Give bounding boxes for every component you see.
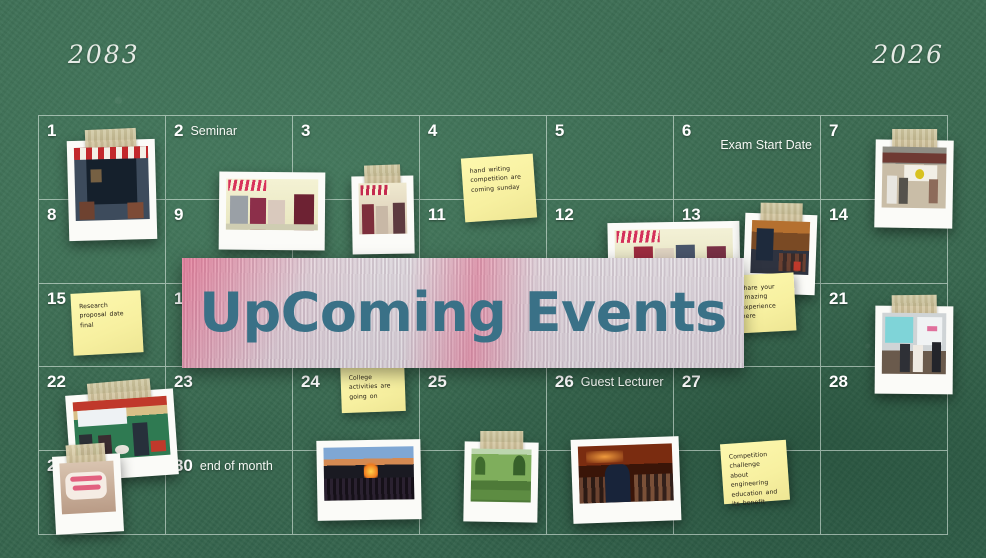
note-handwriting[interactable]: hand writing competition are coming sund… xyxy=(461,154,537,223)
year-label-left: 2083 xyxy=(68,40,140,69)
day-number: 11 xyxy=(428,206,446,224)
photo-image xyxy=(471,448,532,502)
note-text: College activities are going on xyxy=(348,372,397,402)
photo-stage-event[interactable] xyxy=(351,175,414,254)
photo-image xyxy=(578,443,674,503)
day-number: 24 xyxy=(301,373,320,391)
day-number: 26 xyxy=(555,373,574,391)
calendar-cell-30[interactable]: 30end of month xyxy=(166,451,293,535)
photo-award-ceremony[interactable] xyxy=(219,172,326,251)
photo-image xyxy=(750,220,810,275)
photo-classroom-presentation[interactable] xyxy=(875,306,954,395)
photo-green-fields[interactable] xyxy=(463,441,538,522)
photo-students-outdoor[interactable] xyxy=(874,139,954,228)
note-research[interactable]: Research proposal date final xyxy=(70,290,143,356)
day-number: 28 xyxy=(829,373,848,391)
day-number: 1 xyxy=(47,122,56,140)
day-number: 7 xyxy=(829,122,838,140)
calendar-cell-23[interactable]: 23 xyxy=(166,367,293,451)
note-competition[interactable]: Competition challenge about engineering … xyxy=(720,440,790,504)
photo-image xyxy=(358,183,407,235)
day-event-label: Exam Start Date xyxy=(720,122,812,154)
photo-image xyxy=(74,146,150,221)
day-number: 5 xyxy=(555,122,564,140)
note-text: share your amazing experience here xyxy=(740,282,788,322)
day-number: 27 xyxy=(682,373,701,391)
day-number: 8 xyxy=(47,206,56,224)
day-number: 9 xyxy=(174,206,183,224)
day-number: 22 xyxy=(47,373,66,391)
day-event-label: Seminar xyxy=(190,122,237,140)
day-number: 14 xyxy=(829,206,848,224)
calendar-cell-5[interactable]: 5 xyxy=(547,116,674,200)
day-number: 4 xyxy=(428,122,437,140)
chalkboard-calendar-background: 2083 2026 12Seminar3456Exam Start Date78… xyxy=(0,0,986,558)
day-number: 23 xyxy=(174,373,193,391)
note-activities[interactable]: College activities are going on xyxy=(340,363,406,413)
upcoming-events-banner: UpComing Events xyxy=(182,258,744,368)
page-title: UpComing Events xyxy=(199,286,727,340)
photo-speaker-audience[interactable] xyxy=(571,436,682,524)
year-label-right: 2026 xyxy=(872,40,944,69)
note-text: Research proposal date final xyxy=(79,300,134,331)
day-number: 15 xyxy=(47,290,66,308)
photo-image xyxy=(323,446,414,501)
day-number: 6 xyxy=(682,122,691,140)
day-event-label: end of month xyxy=(200,457,273,475)
calendar-cell-empty[interactable] xyxy=(821,451,948,535)
photo-image xyxy=(882,313,947,375)
day-number: 25 xyxy=(428,373,447,391)
photo-image xyxy=(59,461,116,515)
calendar-cell-27[interactable]: 27 xyxy=(674,367,821,451)
photo-image xyxy=(226,179,318,231)
photo-bonfire-crowd[interactable] xyxy=(316,439,421,521)
photo-cafe-storefront[interactable] xyxy=(67,139,158,241)
photo-image xyxy=(882,146,947,208)
day-event-label: Guest Lecturer xyxy=(581,373,664,391)
day-number: 3 xyxy=(301,122,310,140)
note-text: hand writing competition are coming sund… xyxy=(469,163,527,195)
day-number: 21 xyxy=(829,290,848,308)
day-number: 12 xyxy=(555,206,574,224)
day-number: 2 xyxy=(174,122,183,140)
calendar-cell-6[interactable]: 6Exam Start Date xyxy=(674,116,821,200)
note-text: Competition challenge about engineering … xyxy=(729,449,783,509)
photo-birthday-cake[interactable] xyxy=(52,453,124,534)
